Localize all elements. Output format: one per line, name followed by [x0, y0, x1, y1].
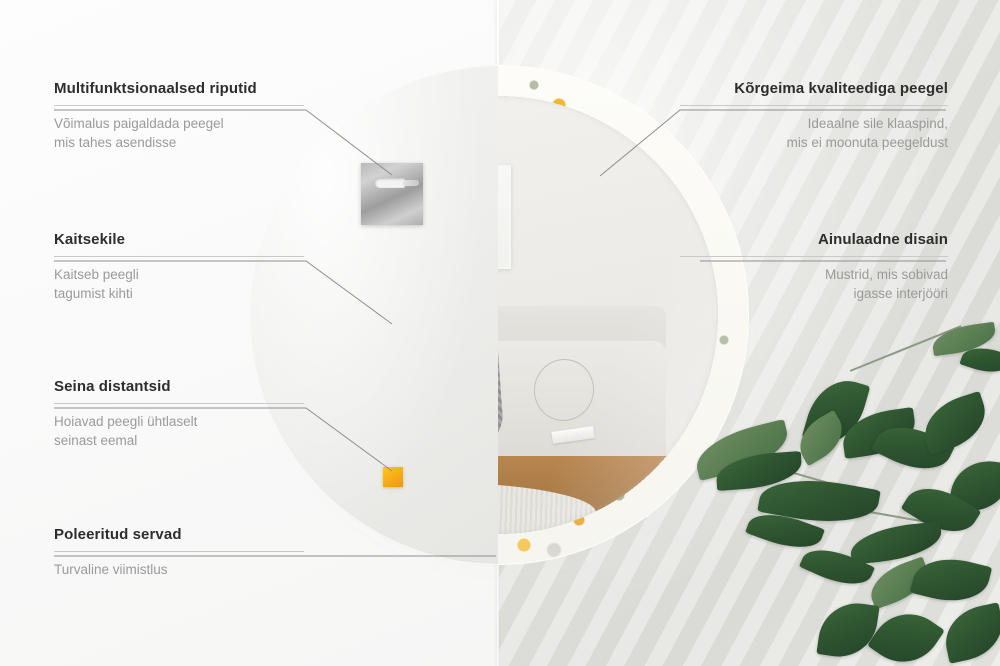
- callout-poleeritud-servad[interactable]: Poleeritud servad Turvaline viimistlus: [54, 526, 304, 580]
- callout-description: Hoiavad peegli ühtlaselt seinast eemal: [54, 413, 304, 450]
- yellow-spacer: [383, 467, 403, 487]
- callout-description: Kaitseb peegli tagumist kihti: [54, 266, 304, 303]
- keyhole-slot-icon: [375, 178, 405, 188]
- callout-rule: [54, 403, 304, 404]
- round-mirror: [249, 65, 749, 565]
- callout-title: Seina distantsid: [54, 378, 304, 396]
- leaf: [917, 391, 994, 455]
- callout-rule: [54, 256, 304, 257]
- leaf: [939, 602, 1000, 663]
- callout-ainulaadne-disain[interactable]: Ainulaadne disain Mustrid, mis sobivad i…: [680, 231, 948, 303]
- callout-seina-distantsid[interactable]: Seina distantsid Hoiavad peegli ühtlasel…: [54, 378, 304, 450]
- leaf: [848, 521, 943, 564]
- callout-kaitsekile[interactable]: Kaitsekile Kaitseb peegli tagumist kihti: [54, 231, 304, 303]
- mirror-disc: [249, 65, 749, 565]
- callout-description: Ideaalne sile klaaspind, mis ei moonuta …: [680, 115, 948, 152]
- callout-rule: [680, 105, 948, 106]
- callout-rule: [680, 256, 948, 257]
- callout-rule: [54, 551, 304, 552]
- callout-title: Kõrgeima kvaliteediga peegel: [680, 80, 948, 98]
- callout-title: Kaitsekile: [54, 231, 304, 249]
- leaf: [816, 598, 879, 661]
- callout-description: Turvaline viimistlus: [54, 561, 304, 580]
- foliage-decoration: [700, 330, 1000, 666]
- callout-korgeima-kvaliteediga-peegel[interactable]: Kõrgeima kvaliteediga peegel Ideaalne si…: [680, 80, 948, 152]
- product-infographic: Multifunktsionaalsed riputid Võimalus pa…: [0, 0, 1000, 666]
- callout-title: Multifunktsionaalsed riputid: [54, 80, 304, 98]
- callout-title: Ainulaadne disain: [680, 231, 948, 249]
- callout-description: Mustrid, mis sobivad igasse interjööri: [680, 266, 948, 303]
- callout-title: Poleeritud servad: [54, 526, 304, 544]
- callout-multifunktsionaalsed-riputid[interactable]: Multifunktsionaalsed riputid Võimalus pa…: [54, 80, 304, 152]
- callout-description: Võimalus paigaldada peegel mis tahes ase…: [54, 115, 304, 152]
- callout-rule: [54, 105, 304, 106]
- hanger-plate: [361, 163, 423, 225]
